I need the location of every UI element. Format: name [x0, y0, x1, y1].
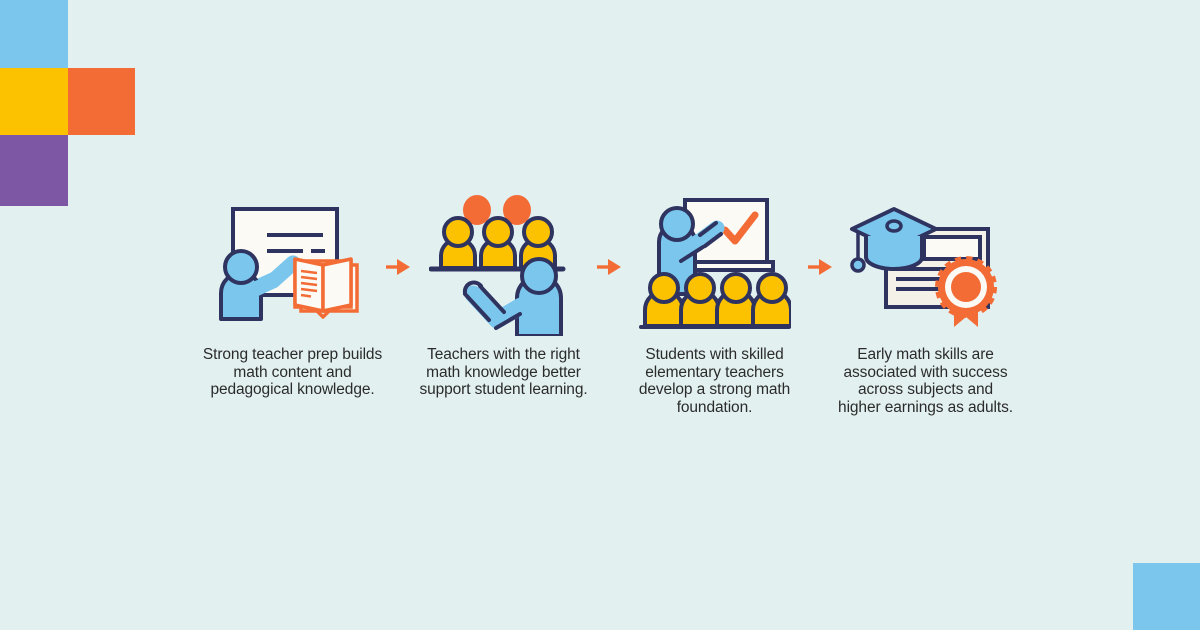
arrow-right-icon	[385, 258, 411, 276]
deco-block-orange-top-left	[68, 68, 135, 135]
flow-step-1-caption: Strong teacher prep builds math content …	[203, 346, 383, 399]
arrow-right-icon	[807, 258, 833, 276]
arrow-right-icon	[596, 258, 622, 276]
flow-arrow-3	[802, 190, 838, 276]
flow-arrow-1	[380, 190, 416, 276]
flow-step-3: Students with skilled elementary teacher…	[627, 190, 802, 416]
flow-step-2: Teachers with the right math knowledge b…	[416, 190, 591, 399]
classroom-lesson-checkmark-icon	[627, 190, 802, 340]
flow-arrow-2	[591, 190, 627, 276]
teacher-with-students-icon	[416, 190, 591, 340]
flow-step-4-caption: Early math skills are associated with su…	[836, 346, 1016, 416]
teacher-whiteboard-book-icon	[205, 190, 380, 340]
graduation-certificate-award-icon	[838, 190, 1013, 340]
process-flow-diagram: Strong teacher prep builds math content …	[205, 190, 995, 416]
deco-block-blue-bottom-right	[1133, 563, 1200, 630]
flow-step-1: Strong teacher prep builds math content …	[205, 190, 380, 399]
flow-step-4: Early math skills are associated with su…	[838, 190, 1013, 416]
deco-block-purple-top-left	[0, 135, 68, 206]
deco-block-yellow-top-left	[0, 68, 68, 135]
flow-step-2-caption: Teachers with the right math knowledge b…	[414, 346, 594, 399]
flow-step-3-caption: Students with skilled elementary teacher…	[625, 346, 805, 416]
deco-block-blue-top-left	[0, 0, 68, 68]
